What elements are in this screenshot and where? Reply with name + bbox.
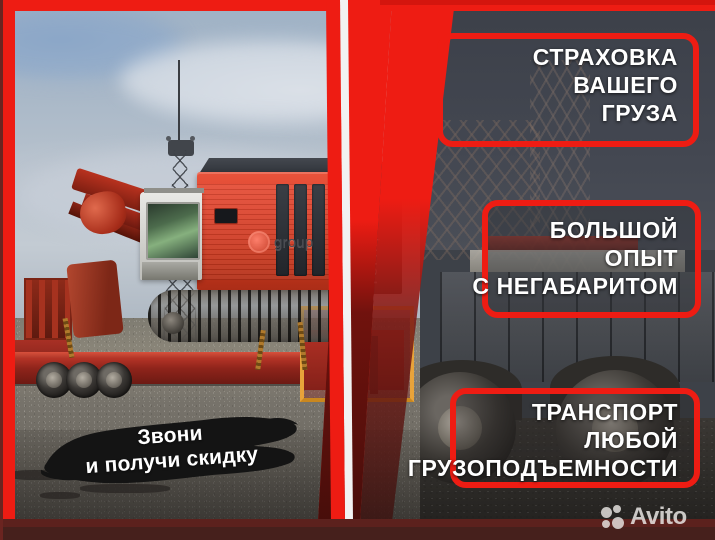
brand-mark-icon bbox=[248, 231, 270, 253]
callout-line: ОПЫТ bbox=[400, 244, 678, 272]
avito-watermark: Avito bbox=[601, 503, 705, 531]
cab-step bbox=[142, 262, 198, 280]
callout-line: ВАШЕГО bbox=[400, 71, 678, 99]
callout-line: ГРУЗОПОДЪЕМНОСТИ bbox=[394, 454, 678, 482]
callout-line: БОЛЬШОЙ bbox=[400, 216, 678, 244]
brand-logo-text: group bbox=[274, 234, 313, 251]
callout-line: СТРАХОВКА bbox=[400, 43, 678, 71]
rig-access-window bbox=[214, 208, 238, 224]
tower-light bbox=[166, 136, 171, 141]
tower-light bbox=[190, 136, 195, 141]
advertisement-banner: group ГОРАЦО bbox=[0, 0, 715, 540]
trailer-wheel-hub bbox=[46, 372, 62, 388]
callout-text-experience: БОЛЬШОЙ ОПЫТ С НЕГАБАРИТОМ bbox=[400, 216, 678, 300]
photo-frame-left bbox=[3, 0, 15, 522]
avito-logo-icon bbox=[601, 505, 626, 530]
left-edge-border bbox=[0, 0, 3, 540]
cab-rail bbox=[144, 188, 204, 193]
callout-line: ГРУЗА bbox=[400, 99, 678, 127]
callout-line: ЛЮБОЙ bbox=[394, 426, 678, 454]
avito-wordmark: Avito bbox=[630, 505, 687, 529]
cab-window bbox=[146, 202, 200, 260]
callout-text-capacity: ТРАНСПОРТ ЛЮБОЙ ГРУЗОПОДЪЕМНОСТИ bbox=[394, 398, 678, 482]
track-roller bbox=[162, 312, 184, 334]
top-red-bar-accent bbox=[380, 0, 715, 5]
callout-line: С НЕГАБАРИТОМ bbox=[400, 272, 678, 300]
callout-text-insurance: СТРАХОВКА ВАШЕГО ГРУЗА bbox=[400, 43, 678, 127]
callout-line: ТРАНСПОРТ bbox=[394, 398, 678, 426]
